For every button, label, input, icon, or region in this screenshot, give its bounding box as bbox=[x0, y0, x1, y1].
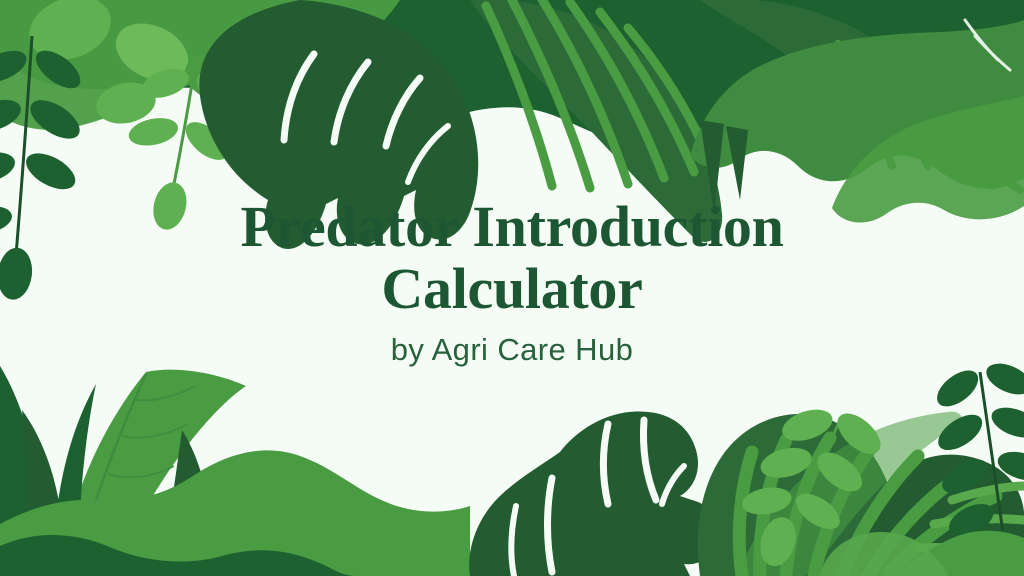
tropical-foliage-illustration bbox=[0, 0, 1024, 576]
slide-canvas: Predator Introduction Calculator by Agri… bbox=[0, 0, 1024, 576]
